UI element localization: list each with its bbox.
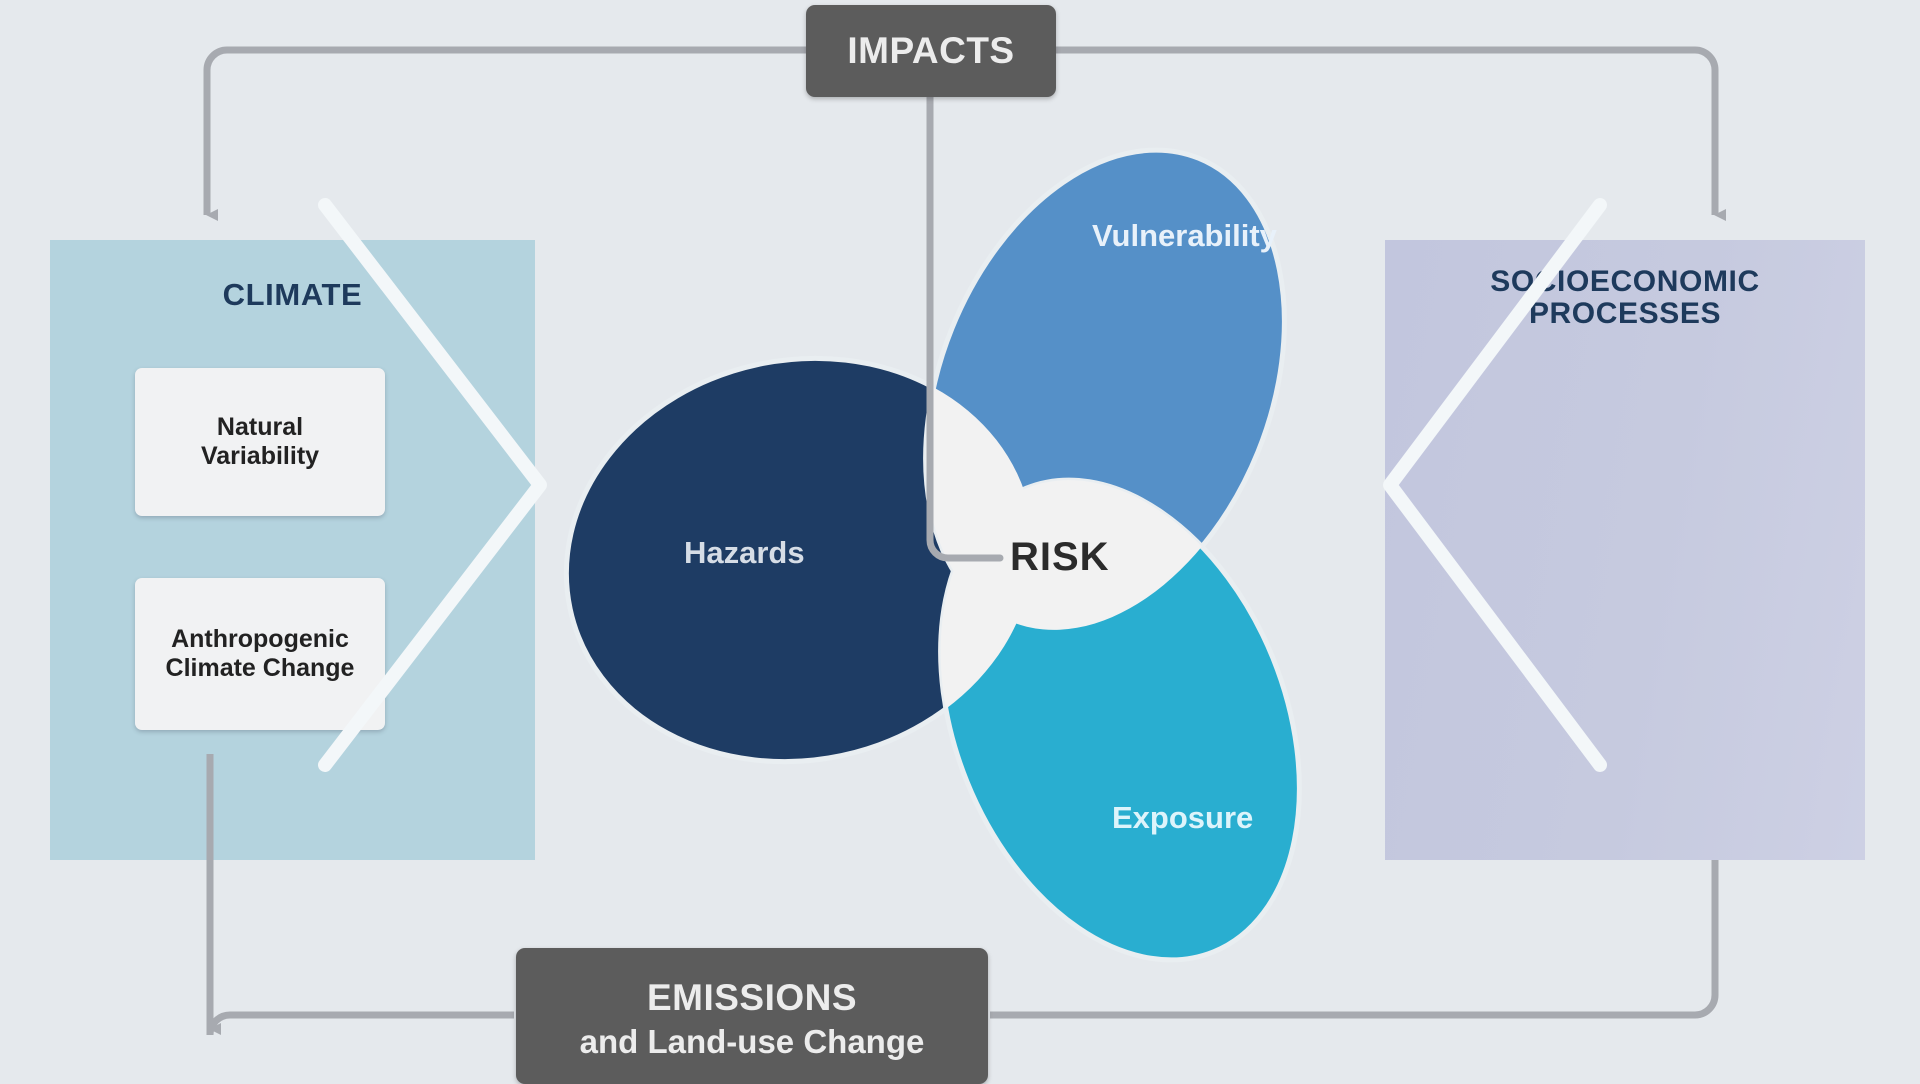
diagram-canvas: CLIMATE Natural Variability Anthropogeni… xyxy=(0,0,1920,1080)
connector-emissions-to-anthropogenic xyxy=(210,755,514,1035)
emissions-label-line-1: EMISSIONS xyxy=(647,977,857,1019)
emissions-box[interactable]: EMISSIONS and Land-use Change xyxy=(516,948,988,1084)
connector-socioeconomic-to-emissions xyxy=(990,860,1715,1015)
emissions-label-line-2: and Land-use Change xyxy=(580,1023,925,1061)
impacts-box[interactable]: IMPACTS xyxy=(806,5,1056,97)
connector-impacts-to-socioeconomic xyxy=(1056,50,1715,215)
connector-layer xyxy=(0,0,1920,1080)
connector-impacts-to-climate xyxy=(207,50,806,215)
impacts-label: IMPACTS xyxy=(847,30,1014,72)
connector-impacts-to-risk xyxy=(930,97,1000,558)
